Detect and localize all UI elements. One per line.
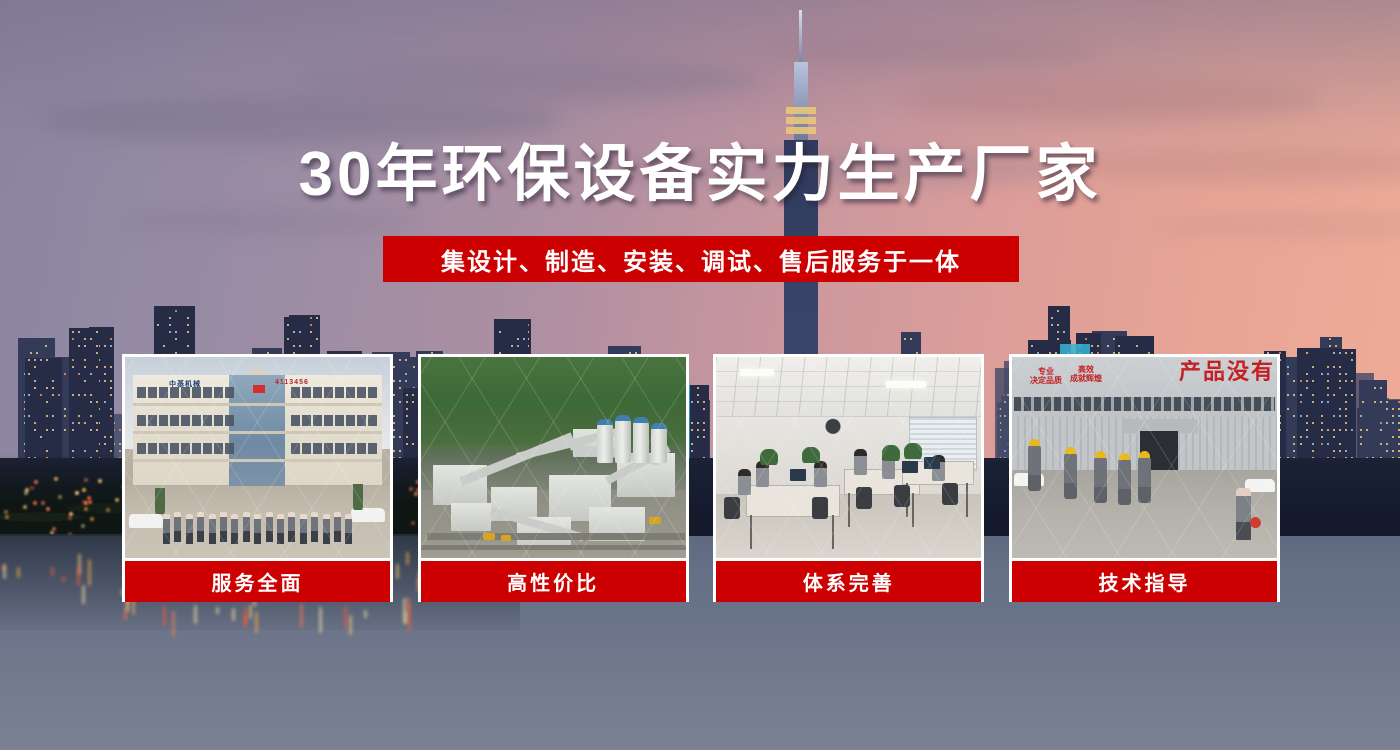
- feature-card[interactable]: 高性价比: [418, 354, 689, 602]
- card-photo-office: [716, 357, 981, 558]
- card-caption: 服务全面: [125, 561, 390, 602]
- card-photo-building: 中基机械 4113456: [125, 357, 390, 558]
- card-caption: 技术指导: [1012, 561, 1277, 602]
- feature-card-row: 中基机械 4113456 服务全面: [122, 354, 1280, 602]
- factory-wall-text: 产品没有: [1179, 361, 1275, 383]
- feature-card[interactable]: 产品没有 专业决定品质 高效成就辉煌 技术指导: [1009, 354, 1280, 602]
- feature-card[interactable]: 体系完善: [713, 354, 984, 602]
- feature-card[interactable]: 中基机械 4113456 服务全面: [122, 354, 393, 602]
- promo-banner: 30年环保设备实力生产厂家 集设计、制造、安装、调试、售后服务于一体 中基机械 …: [0, 0, 1400, 750]
- page-title: 30年环保设备实力生产厂家: [0, 140, 1400, 210]
- building-phone: 4113456: [275, 379, 309, 386]
- card-photo-workers: 产品没有 专业决定品质 高效成就辉煌: [1012, 357, 1277, 558]
- subtitle-banner: 集设计、制造、安装、调试、售后服务于一体: [383, 236, 1019, 282]
- subtitle-text: 集设计、制造、安装、调试、售后服务于一体: [441, 242, 961, 277]
- card-caption: 高性价比: [421, 561, 686, 602]
- card-caption: 体系完善: [716, 561, 981, 602]
- card-photo-plant-aerial: [421, 357, 686, 558]
- building-signage: 中基机械: [169, 379, 201, 389]
